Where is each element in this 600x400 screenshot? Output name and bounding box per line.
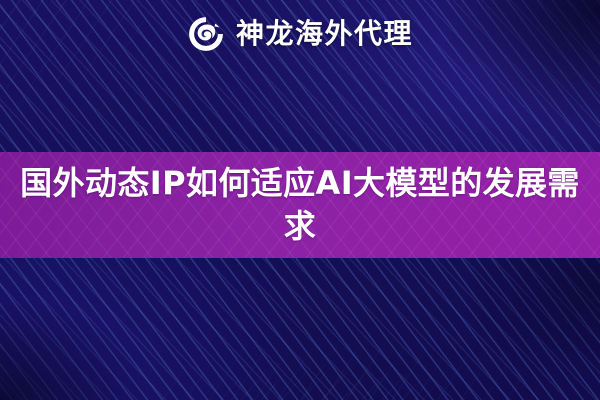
brand-logo-lockup: 神龙海外代理 — [0, 8, 600, 60]
swirl-circle-logo-icon — [187, 15, 225, 53]
promo-banner: 神龙海外代理 国外动态IP如何适应AI大模型的发展需求 — [0, 0, 600, 400]
headline-band: 国外动态IP如何适应AI大模型的发展需求 — [0, 152, 600, 258]
headline-title: 国外动态IP如何适应AI大模型的发展需求 — [20, 162, 580, 248]
brand-name-text: 神龙海外代理 — [236, 20, 413, 48]
